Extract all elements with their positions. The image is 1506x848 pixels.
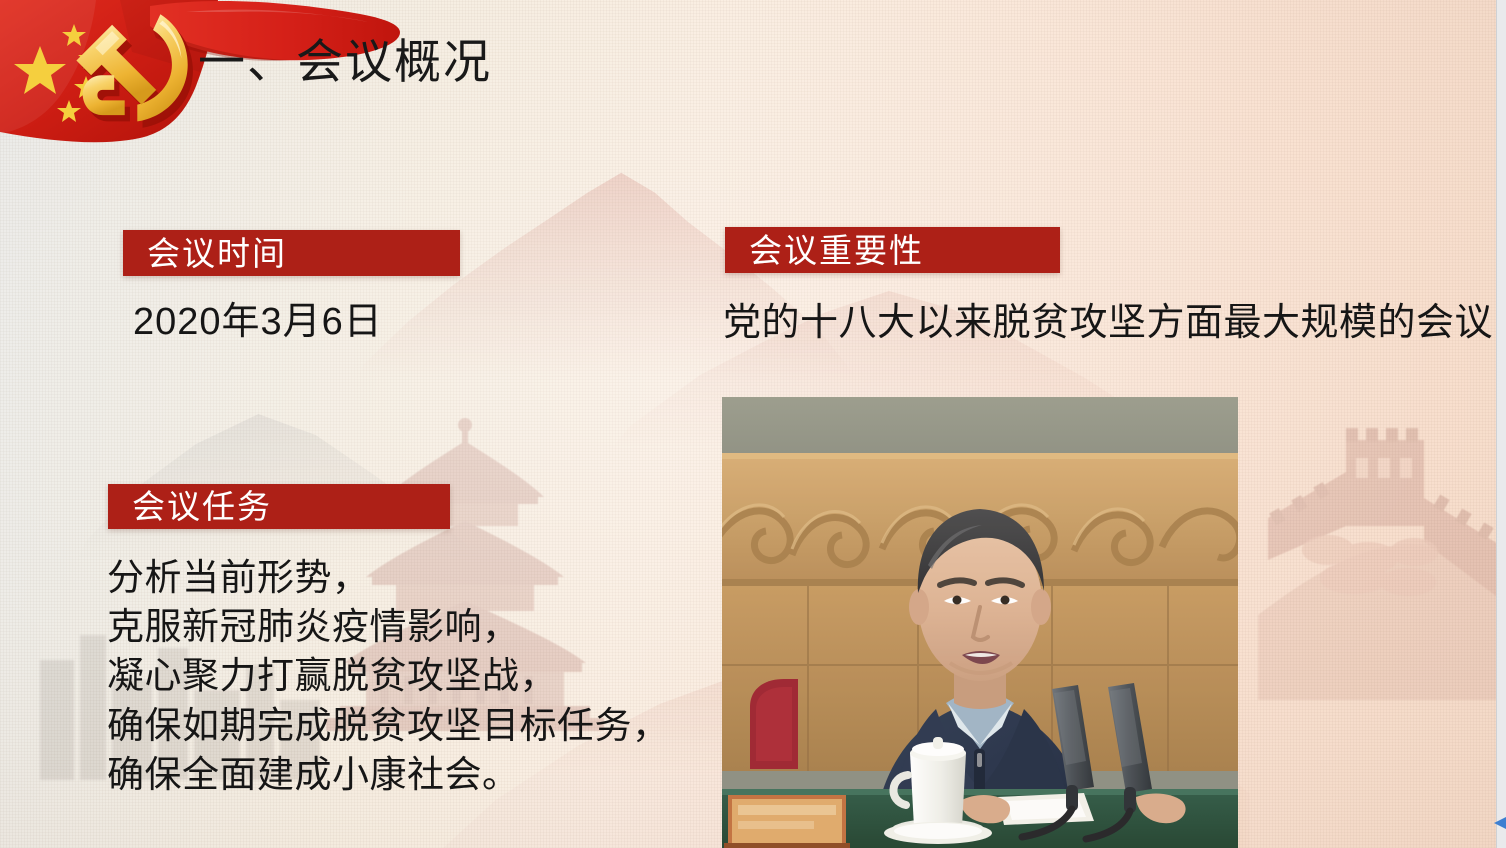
great-wall-watermark [1258,400,1496,700]
meeting-task-line: 分析当前形势， [107,553,670,602]
slide-root: 一、会议概况 会议时间 2020年3月6日 会议重要性 党的十八大以来脱贫攻坚方… [0,0,1506,848]
meeting-time-value: 2020年3月6日 [133,302,383,344]
meeting-task-line: 确保全面建成小康社会。 [107,750,670,799]
speaker-at-conference-photo [722,397,1238,848]
slide-canvas: 一、会议概况 会议时间 2020年3月6日 会议重要性 党的十八大以来脱贫攻坚方… [0,0,1496,848]
meeting-task-list: 分析当前形势，克服新冠肺炎疫情影响，凝心聚力打赢脱贫攻坚战，确保如期完成脱贫攻坚… [107,553,670,799]
next-slide-arrow-icon[interactable] [1493,816,1506,830]
page-title: 一、会议概况 [198,38,492,85]
section-label-meeting-task: 会议任务 [108,484,450,529]
meeting-task-line: 凝心聚力打赢脱贫攻坚战， [107,651,670,700]
section-label-meeting-time: 会议时间 [123,230,460,276]
meeting-importance-value: 党的十八大以来脱贫攻坚方面最大规模的会议 [723,303,1493,345]
right-scroll-rail[interactable] [1496,0,1506,848]
meeting-task-line: 确保如期完成脱贫攻坚目标任务， [107,701,670,750]
meeting-task-line: 克服新冠肺炎疫情影响， [107,602,670,651]
section-label-meeting-importance: 会议重要性 [725,227,1060,273]
